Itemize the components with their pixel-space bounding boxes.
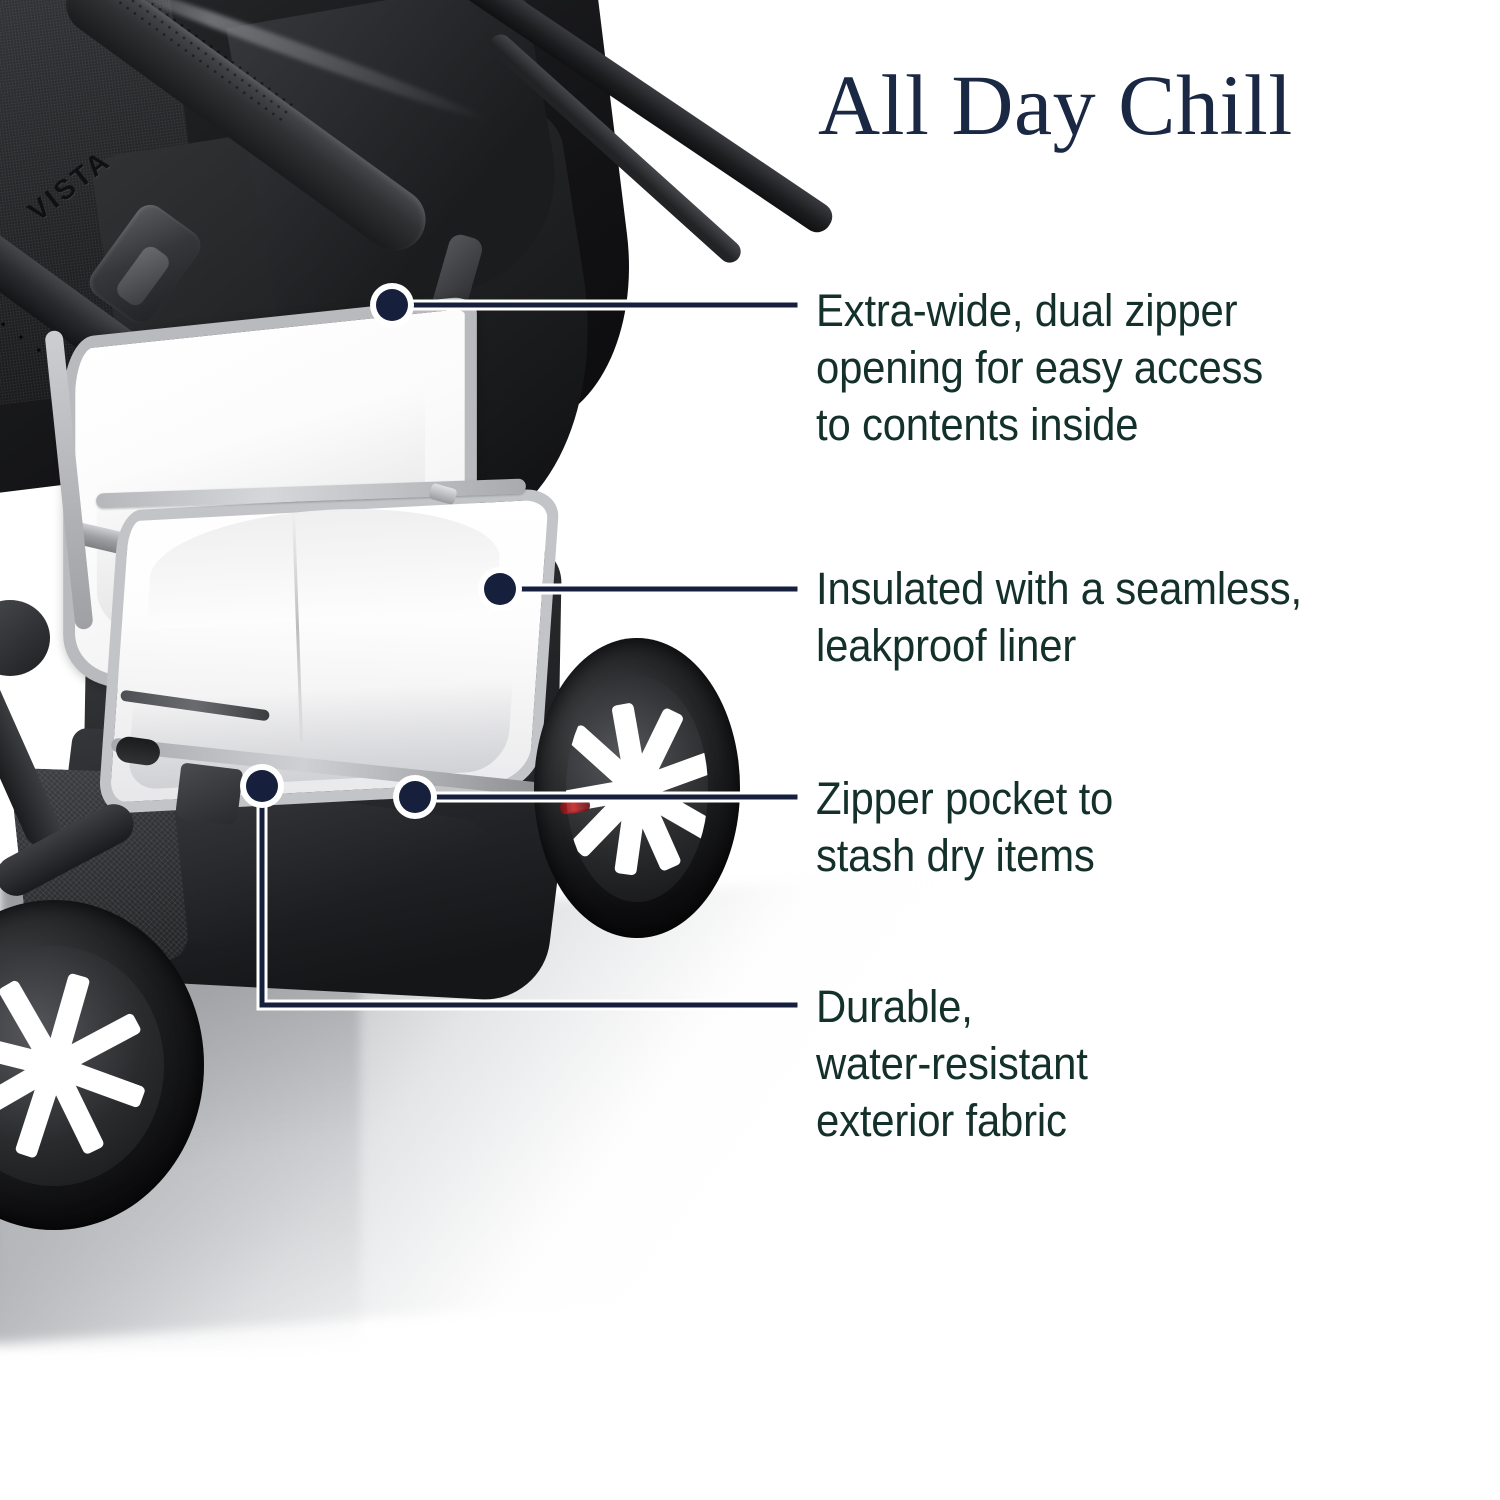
infographic-canvas: VISTA xyxy=(0,0,1500,1500)
callout-label-durable-water-resistant-fabric: Durable, water-resistant exterior fabric xyxy=(816,978,1281,1149)
rear-wheel-spokes xyxy=(566,676,708,902)
callout-label-zipper-pocket-dry-items: Zipper pocket to stash dry items xyxy=(816,770,1281,884)
callout-label-insulated-leakproof-liner: Insulated with a seamless, leakproof lin… xyxy=(816,560,1430,674)
product-photo: VISTA xyxy=(0,0,800,1280)
page-title: All Day Chill xyxy=(818,62,1458,148)
cooler-bag-front-pocket-tab xyxy=(175,762,243,825)
stroller-wheel-hub-left xyxy=(0,600,50,676)
callout-label-extra-wide-dual-zipper: Extra-wide, dual zipper opening for easy… xyxy=(816,282,1411,453)
